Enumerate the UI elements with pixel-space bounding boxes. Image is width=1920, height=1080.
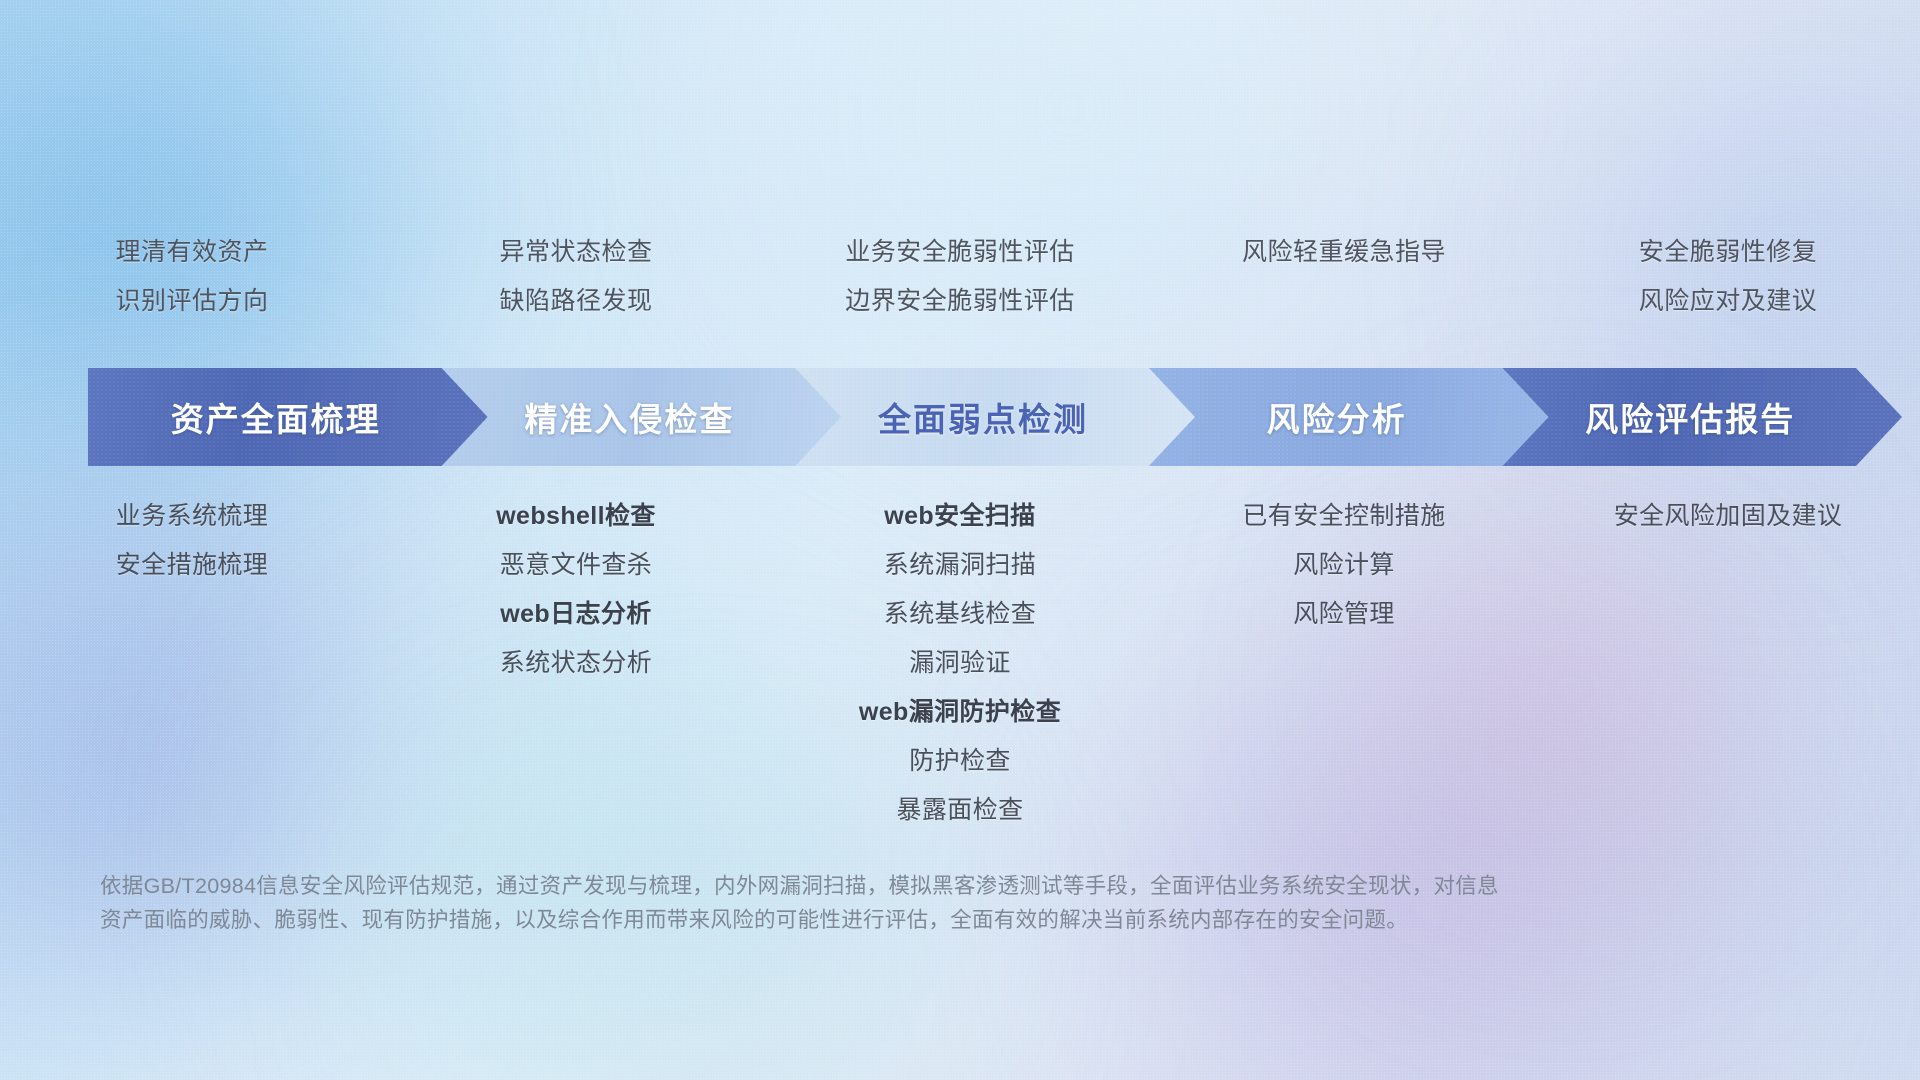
top-labels-col-2: 异常状态检查缺陷路径发现: [384, 228, 768, 326]
footer-line-2: 资产面临的威胁、脆弱性、现有防护措施，以及综合作用而带来风险的可能性进行评估，全…: [100, 903, 1610, 937]
bottom-label: web漏洞防护检查: [768, 688, 1152, 737]
top-label: 风险应对及建议: [1536, 277, 1920, 326]
top-label: 边界安全脆弱性评估: [768, 277, 1152, 326]
bottom-label: 防护检查: [768, 737, 1152, 786]
process-step-5[interactable]: 风险评估报告: [1502, 368, 1902, 466]
top-label: 风险轻重缓急指导: [1152, 228, 1536, 277]
bottom-label: 已有安全控制措施: [1152, 492, 1536, 541]
bottom-label: 安全风险加固及建议: [1536, 492, 1920, 541]
top-label: 安全脆弱性修复: [1536, 228, 1920, 277]
top-labels-col-5: 安全脆弱性修复风险应对及建议: [1536, 228, 1920, 326]
bottom-labels-col-3: web安全扫描系统漏洞扫描系统基线检查漏洞验证web漏洞防护检查防护检查暴露面检…: [768, 492, 1152, 835]
bottom-label: web安全扫描: [768, 492, 1152, 541]
top-label: 业务安全脆弱性评估: [768, 228, 1152, 277]
bottom-labels-row: 业务系统梳理安全措施梳理webshell检查恶意文件查杀web日志分析系统状态分…: [0, 492, 1920, 835]
top-label: 识别评估方向: [0, 277, 384, 326]
top-labels-col-1: 理清有效资产识别评估方向: [0, 228, 384, 326]
bottom-label: 风险计算: [1152, 541, 1536, 590]
bottom-label: 系统漏洞扫描: [768, 541, 1152, 590]
bottom-label: 系统状态分析: [384, 639, 768, 688]
top-labels-col-3: 业务安全脆弱性评估边界安全脆弱性评估: [768, 228, 1152, 326]
bottom-label: web日志分析: [384, 590, 768, 639]
process-step-label: 风险分析: [1267, 393, 1407, 441]
bottom-label: 漏洞验证: [768, 639, 1152, 688]
bottom-labels-col-1: 业务系统梳理安全措施梳理: [0, 492, 384, 590]
bottom-label: 安全措施梳理: [0, 541, 384, 590]
process-step-3[interactable]: 全面弱点检测: [795, 368, 1195, 466]
bottom-labels-col-4: 已有安全控制措施风险计算风险管理: [1152, 492, 1536, 639]
process-step-label: 风险评估报告: [1585, 393, 1795, 441]
bottom-label: webshell检查: [384, 492, 768, 541]
footer-line-1: 依据GB/T20984信息安全风险评估规范，通过资产发现与梳理，内外网漏洞扫描，…: [100, 869, 1610, 903]
top-labels-row: 理清有效资产识别评估方向异常状态检查缺陷路径发现业务安全脆弱性评估边界安全脆弱性…: [0, 228, 1920, 326]
top-labels-col-4: 风险轻重缓急指导: [1152, 228, 1536, 326]
bottom-label: 风险管理: [1152, 590, 1536, 639]
bottom-label: 恶意文件查杀: [384, 541, 768, 590]
bottom-labels-col-2: webshell检查恶意文件查杀web日志分析系统状态分析: [384, 492, 768, 688]
bottom-label: 业务系统梳理: [0, 492, 384, 541]
process-step-2[interactable]: 精准入侵检查: [442, 368, 842, 466]
process-step-label: 资产全面梳理: [171, 393, 381, 441]
top-label: 异常状态检查: [384, 228, 768, 277]
process-step-label: 精准入侵检查: [524, 393, 734, 441]
diagram-stage: 理清有效资产识别评估方向异常状态检查缺陷路径发现业务安全脆弱性评估边界安全脆弱性…: [0, 0, 1920, 1080]
bottom-label: 暴露面检查: [768, 786, 1152, 835]
top-label: 理清有效资产: [0, 228, 384, 277]
top-label: 缺陷路径发现: [384, 277, 768, 326]
bottom-label: 系统基线检查: [768, 590, 1152, 639]
footer-description: 依据GB/T20984信息安全风险评估规范，通过资产发现与梳理，内外网漏洞扫描，…: [100, 869, 1610, 937]
bottom-labels-col-5: 安全风险加固及建议: [1536, 492, 1920, 541]
process-step-1[interactable]: 资产全面梳理: [88, 368, 488, 466]
process-chevron-band: 资产全面梳理精准入侵检查全面弱点检测风险分析风险评估报告: [88, 368, 1902, 466]
process-step-label: 全面弱点检测: [878, 393, 1088, 441]
process-step-4[interactable]: 风险分析: [1149, 368, 1549, 466]
